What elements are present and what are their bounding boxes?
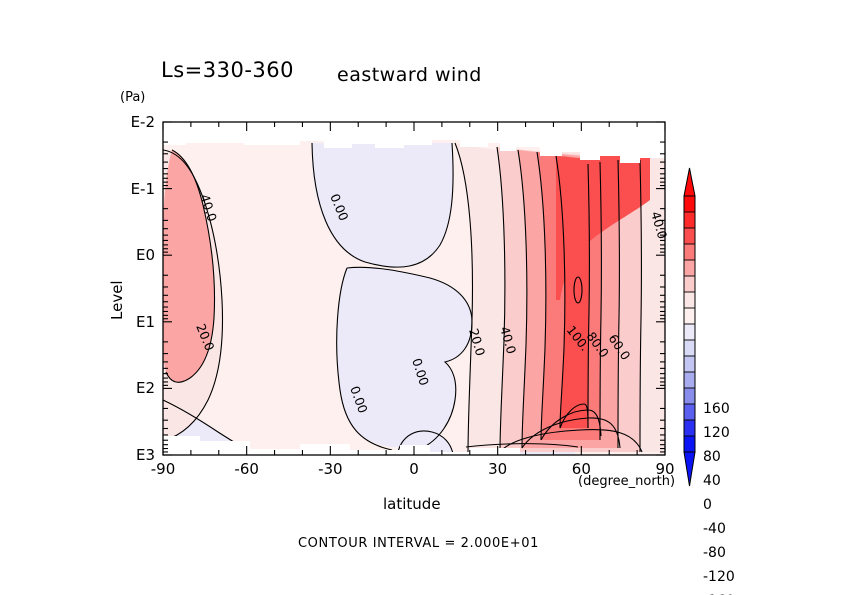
colorbar-band — [684, 372, 695, 388]
colorbar-band — [684, 276, 695, 292]
contour-plot: 40.0 0.00 20.0 0.00 0.00 20.0 40.0 100. … — [0, 0, 842, 595]
colorbar-tick-label: 80 — [703, 449, 721, 465]
colorbar-band — [684, 356, 695, 372]
colorbar-band — [684, 292, 695, 308]
yaxis-tick-label: E0 — [101, 246, 155, 264]
colorbar-band — [684, 308, 695, 324]
colorbar-band — [684, 196, 695, 212]
colorbar-band — [684, 388, 695, 404]
xaxis-tick-label: 90 — [647, 460, 683, 478]
colorbar-tick-label: 160 — [703, 401, 730, 417]
colorbar-band — [684, 244, 695, 260]
colorbar-tick-labels: 16012080400-40-80-120-160 — [703, 401, 735, 595]
yaxis-tick-label: E-1 — [101, 180, 155, 198]
colorbar-tick-label: 0 — [703, 497, 712, 513]
yaxis-tick-label: E1 — [101, 313, 155, 331]
colorbar-band — [684, 212, 695, 228]
xaxis-tick-label: 0 — [396, 460, 432, 478]
colorbar-tick-label: -80 — [703, 545, 726, 561]
colorbar-band — [684, 340, 695, 356]
xaxis-tick-label: 30 — [480, 460, 516, 478]
colorbar-band — [684, 436, 695, 452]
colorbar-tick-label: 120 — [703, 425, 730, 441]
contour-fill-layer — [160, 130, 670, 460]
colorbar-extend-max-arrow — [684, 168, 695, 196]
yaxis-tick-label: E2 — [101, 379, 155, 397]
colorbar-tick-label: 40 — [703, 473, 721, 489]
colorbar-band — [684, 420, 695, 436]
colorbar[interactable]: 16012080400-40-80-120-160 — [684, 168, 735, 595]
colorbar-band — [684, 404, 695, 420]
colorbar-tick-label: -120 — [703, 569, 735, 585]
yaxis-tick-label: E-2 — [101, 113, 155, 131]
xaxis-tick-label: 60 — [563, 460, 599, 478]
colorbar-band — [684, 324, 695, 340]
yaxis-tick-label: E3 — [101, 446, 155, 464]
colorbar-extend-min-arrow — [684, 452, 695, 486]
colorbar-tick-label: -40 — [703, 521, 726, 537]
colorbar-band — [684, 260, 695, 276]
figure-canvas: Ls=330-360 eastward wind (Pa) Level lati… — [0, 0, 842, 595]
colorbar-band — [684, 228, 695, 244]
xaxis-tick-label: -60 — [229, 460, 265, 478]
xaxis-tick-label: -30 — [312, 460, 348, 478]
